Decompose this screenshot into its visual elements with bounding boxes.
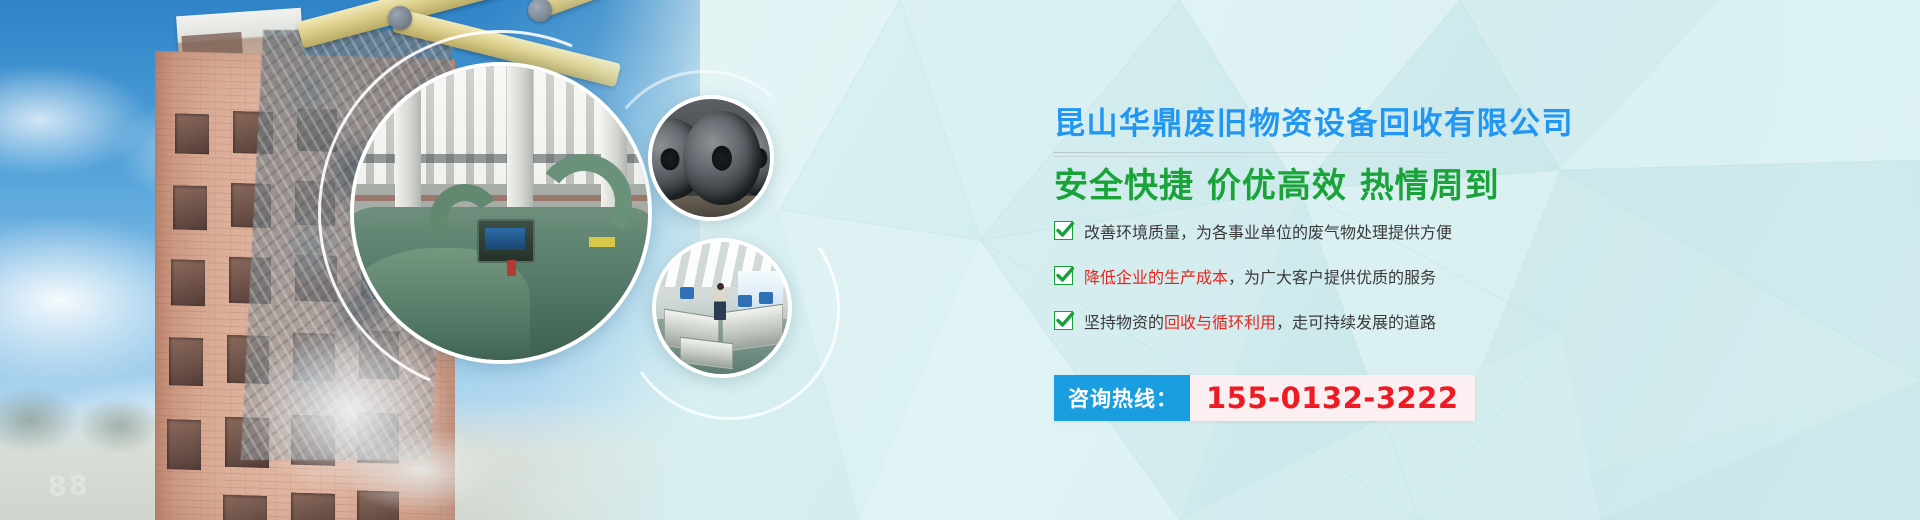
- feature-highlight: 降低企业的生产成本: [1084, 264, 1228, 288]
- steel-coil-2: [683, 111, 761, 205]
- chiller-tank: [350, 248, 530, 364]
- feature-item: 坚持物资的 回收与循环利用 ，走可持续发展的道路: [1054, 298, 1594, 343]
- divider-line-top: [1054, 152, 1484, 153]
- feature-highlight: 回收与循环利用: [1164, 309, 1276, 333]
- feature-list: 改善环境质量，为各事业单位的废气物处理提供方便 降低企业的生产成本 ，为广大客户…: [1054, 208, 1594, 343]
- promo-banner: 88: [0, 0, 1920, 520]
- equipment-unit-1: [680, 287, 694, 299]
- hotline-number[interactable]: 155-0132-3222: [1190, 375, 1475, 421]
- feature-item: 改善环境质量，为各事业单位的废气物处理提供方便: [1054, 208, 1594, 253]
- warning-label: [589, 237, 615, 247]
- support-column-1: [395, 66, 421, 207]
- slogan-text: 安全快捷 价优高效 热情周到: [1054, 158, 1500, 207]
- equipment-unit-2: [738, 295, 752, 307]
- workshop-scene: [656, 242, 788, 374]
- divider-line-bottom: [1054, 156, 1484, 157]
- control-panel: [477, 219, 535, 263]
- boom-joint-a: [388, 6, 412, 30]
- check-icon: [1054, 311, 1073, 330]
- equipment-unit-3: [759, 292, 773, 304]
- hotline-block[interactable]: 咨询热线： 155-0132-3222: [1054, 375, 1475, 421]
- check-icon: [1054, 266, 1073, 285]
- feature-tail: ，为广大客户提供优质的服务: [1228, 264, 1436, 288]
- feature-lead: 改善环境质量，为各事业单位的废气物处理提供方便: [1084, 219, 1452, 243]
- banner-content: 昆山华鼎废旧物资设备回收有限公司 安全快捷 价优高效 热情周到 改善环境质量，为…: [1040, 0, 1600, 520]
- feature-item: 降低企业的生产成本 ，为广大客户提供优质的服务: [1054, 253, 1594, 298]
- steel-coil-scene: [652, 99, 770, 217]
- circle-photo-machinery: [350, 62, 652, 364]
- hotline-label: 咨询热线：: [1054, 375, 1190, 421]
- feature-lead: 坚持物资的: [1084, 309, 1164, 333]
- support-column-2: [507, 66, 533, 207]
- machinery-scene: [354, 66, 648, 360]
- company-title: 昆山华鼎废旧物资设备回收有限公司: [1054, 98, 1574, 143]
- circle-photo-workshop: [652, 238, 792, 378]
- feature-tail: ，走可持续发展的道路: [1276, 309, 1436, 333]
- valve-handle: [507, 260, 516, 276]
- circle-photo-steel-coils: [648, 95, 774, 221]
- worker-figure: [714, 290, 726, 320]
- check-icon: [1054, 221, 1073, 240]
